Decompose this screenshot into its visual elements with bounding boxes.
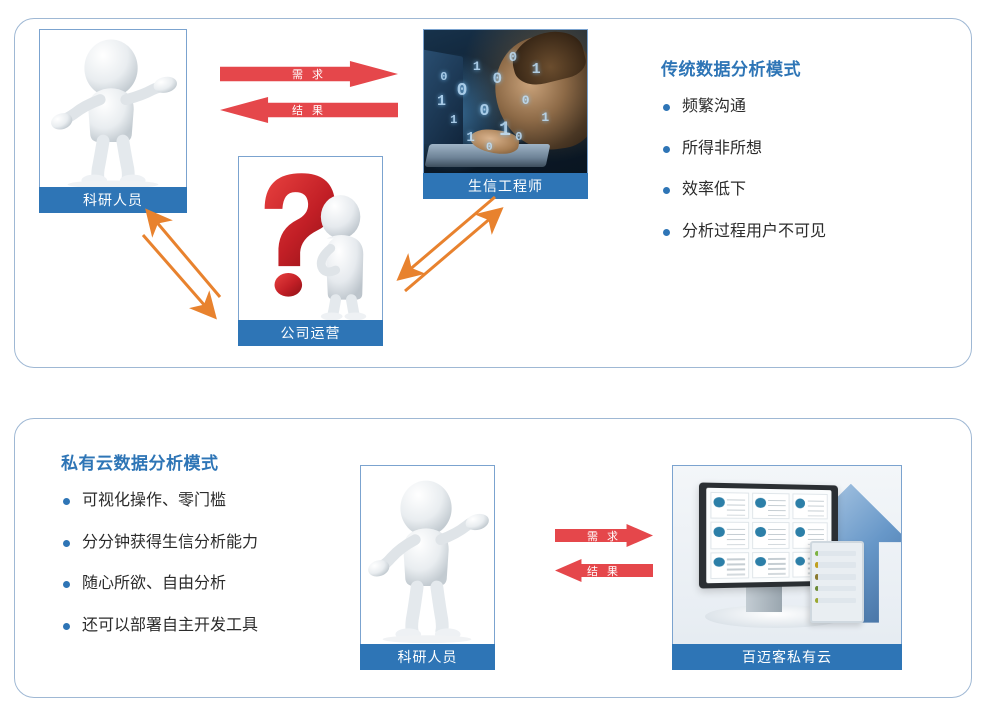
dashboard-tile (752, 551, 789, 578)
traditional-mode-panel: 科研人员 1 0 1 0 0 1 0 1 0 (14, 18, 972, 368)
arrow-result-top: 结 果 (220, 97, 398, 123)
list-item: 效率低下 (661, 181, 951, 199)
private-cloud-mode-panel: 私有云数据分析模式 可视化操作、零门槛 分分钟获得生信分析能力 随心所欲、自由分… (14, 418, 972, 698)
bullet-dot-icon (663, 229, 670, 236)
question-mark-scene (239, 157, 382, 320)
list-item-label: 效率低下 (682, 181, 746, 198)
arrow-label: 需 求 (292, 66, 326, 82)
dashboard-tile (752, 493, 789, 520)
traditional-text-block: 传统数据分析模式 频繁沟通 所得非所想 效率低下 分析过程用户不可见 (661, 55, 951, 264)
bullet-dot-icon (63, 540, 70, 547)
binary-digit: 1 (450, 113, 457, 127)
list-item: 分分钟获得生信分析能力 (61, 534, 361, 552)
card-engineer[interactable]: 1 0 1 0 0 1 0 1 0 1 0 0 1 0 1 生信工程师 (423, 29, 588, 199)
binary-digit: 0 (479, 102, 489, 121)
dashboard-tile (752, 522, 789, 549)
card-caption: 科研人员 (360, 644, 495, 670)
question-mark-icon (239, 157, 382, 320)
binary-digit: 0 (522, 93, 530, 108)
researcher-image-bottom (360, 465, 495, 644)
arrow-label: 结 果 (292, 102, 326, 118)
tablet-row (818, 586, 856, 591)
list-item-label: 还可以部署自主开发工具 (82, 617, 258, 634)
private-cloud-title: 私有云数据分析模式 (61, 449, 361, 474)
dashboard-tile (792, 493, 828, 519)
researcher-image-top (39, 29, 187, 187)
list-item-label: 可视化操作、零门槛 (82, 492, 226, 509)
binary-digit: 0 (486, 142, 493, 154)
engineer-photo: 1 0 1 0 0 1 0 1 0 1 0 0 1 0 1 (424, 30, 587, 173)
binary-digit: 1 (437, 93, 446, 110)
binary-digit: 0 (509, 50, 517, 66)
list-item: 所得非所想 (661, 140, 951, 158)
dashboard-tile (711, 492, 749, 519)
list-item: 随心所欲、自由分析 (61, 575, 361, 593)
card-caption: 公司运营 (238, 320, 383, 346)
dashboard-tile (711, 522, 749, 549)
list-item-label: 分分钟获得生信分析能力 (82, 534, 258, 551)
card-private-cloud[interactable]: 百迈客私有云 (672, 465, 902, 670)
binary-digit: 1 (541, 110, 549, 125)
list-item-label: 随心所欲、自由分析 (82, 575, 226, 592)
card-researcher-top[interactable]: 科研人员 (39, 29, 187, 213)
dashboard-tile (711, 552, 749, 579)
private-cloud-text-block: 私有云数据分析模式 可视化操作、零门槛 分分钟获得生信分析能力 随心所欲、自由分… (61, 449, 361, 658)
bullet-dot-icon (63, 623, 70, 630)
white-3d-figure-icon (40, 30, 186, 187)
list-item-label: 所得非所想 (682, 140, 762, 157)
white-3d-figure-icon (361, 466, 494, 644)
engineer-image: 1 0 1 0 0 1 0 1 0 1 0 0 1 0 1 (423, 29, 588, 173)
binary-digit: 0 (515, 130, 522, 144)
arrow-label: 结 果 (587, 563, 621, 579)
list-item-label: 分析过程用户不可见 (682, 223, 826, 240)
bullet-dot-icon (663, 187, 670, 194)
operations-image (238, 156, 383, 320)
arrow-label: 需 求 (587, 528, 621, 544)
arrow-demand-top: 需 求 (220, 61, 398, 87)
list-item: 分析过程用户不可见 (661, 223, 951, 241)
list-item-label: 频繁沟通 (682, 98, 746, 115)
cloud-product-scene (673, 466, 901, 644)
tablet-shape (810, 541, 864, 623)
tablet-row (818, 562, 856, 567)
binary-digit: 1 (532, 61, 541, 78)
arrow-result-bottom: 结 果 (555, 559, 653, 582)
traditional-bullet-list: 频繁沟通 所得非所想 效率低下 分析过程用户不可见 (661, 98, 951, 240)
orange-arrows-right (387, 191, 515, 299)
private-cloud-image (672, 465, 902, 644)
binary-digit: 1 (466, 130, 474, 146)
tablet-row (818, 551, 856, 556)
binary-digit: 1 (473, 59, 481, 74)
bullet-dot-icon (63, 581, 70, 588)
binary-digit: 1 (499, 119, 511, 142)
arrow-demand-bottom: 需 求 (555, 524, 653, 547)
tablet-row (818, 574, 856, 579)
binary-digit: 0 (492, 70, 502, 88)
card-operations[interactable]: 公司运营 (238, 156, 383, 346)
card-caption: 百迈客私有云 (672, 644, 902, 670)
binary-digit: 0 (457, 81, 468, 101)
bullet-dot-icon (663, 104, 670, 111)
tablet-row (818, 598, 856, 603)
bullet-dot-icon (663, 146, 670, 153)
binary-digit: 0 (440, 70, 447, 84)
monitor-stand-shape (746, 583, 782, 611)
card-researcher-bottom[interactable]: 科研人员 (360, 465, 495, 670)
bullet-dot-icon (63, 498, 70, 505)
list-item: 频繁沟通 (661, 98, 951, 116)
orange-arrows-left (125, 197, 255, 322)
traditional-title: 传统数据分析模式 (661, 55, 951, 80)
private-cloud-bullet-list: 可视化操作、零门槛 分分钟获得生信分析能力 随心所欲、自由分析 还可以部署自主开… (61, 492, 361, 634)
slide-canvas: 科研人员 1 0 1 0 0 1 0 1 0 (0, 0, 990, 713)
list-item: 可视化操作、零门槛 (61, 492, 361, 510)
list-item: 还可以部署自主开发工具 (61, 617, 361, 635)
